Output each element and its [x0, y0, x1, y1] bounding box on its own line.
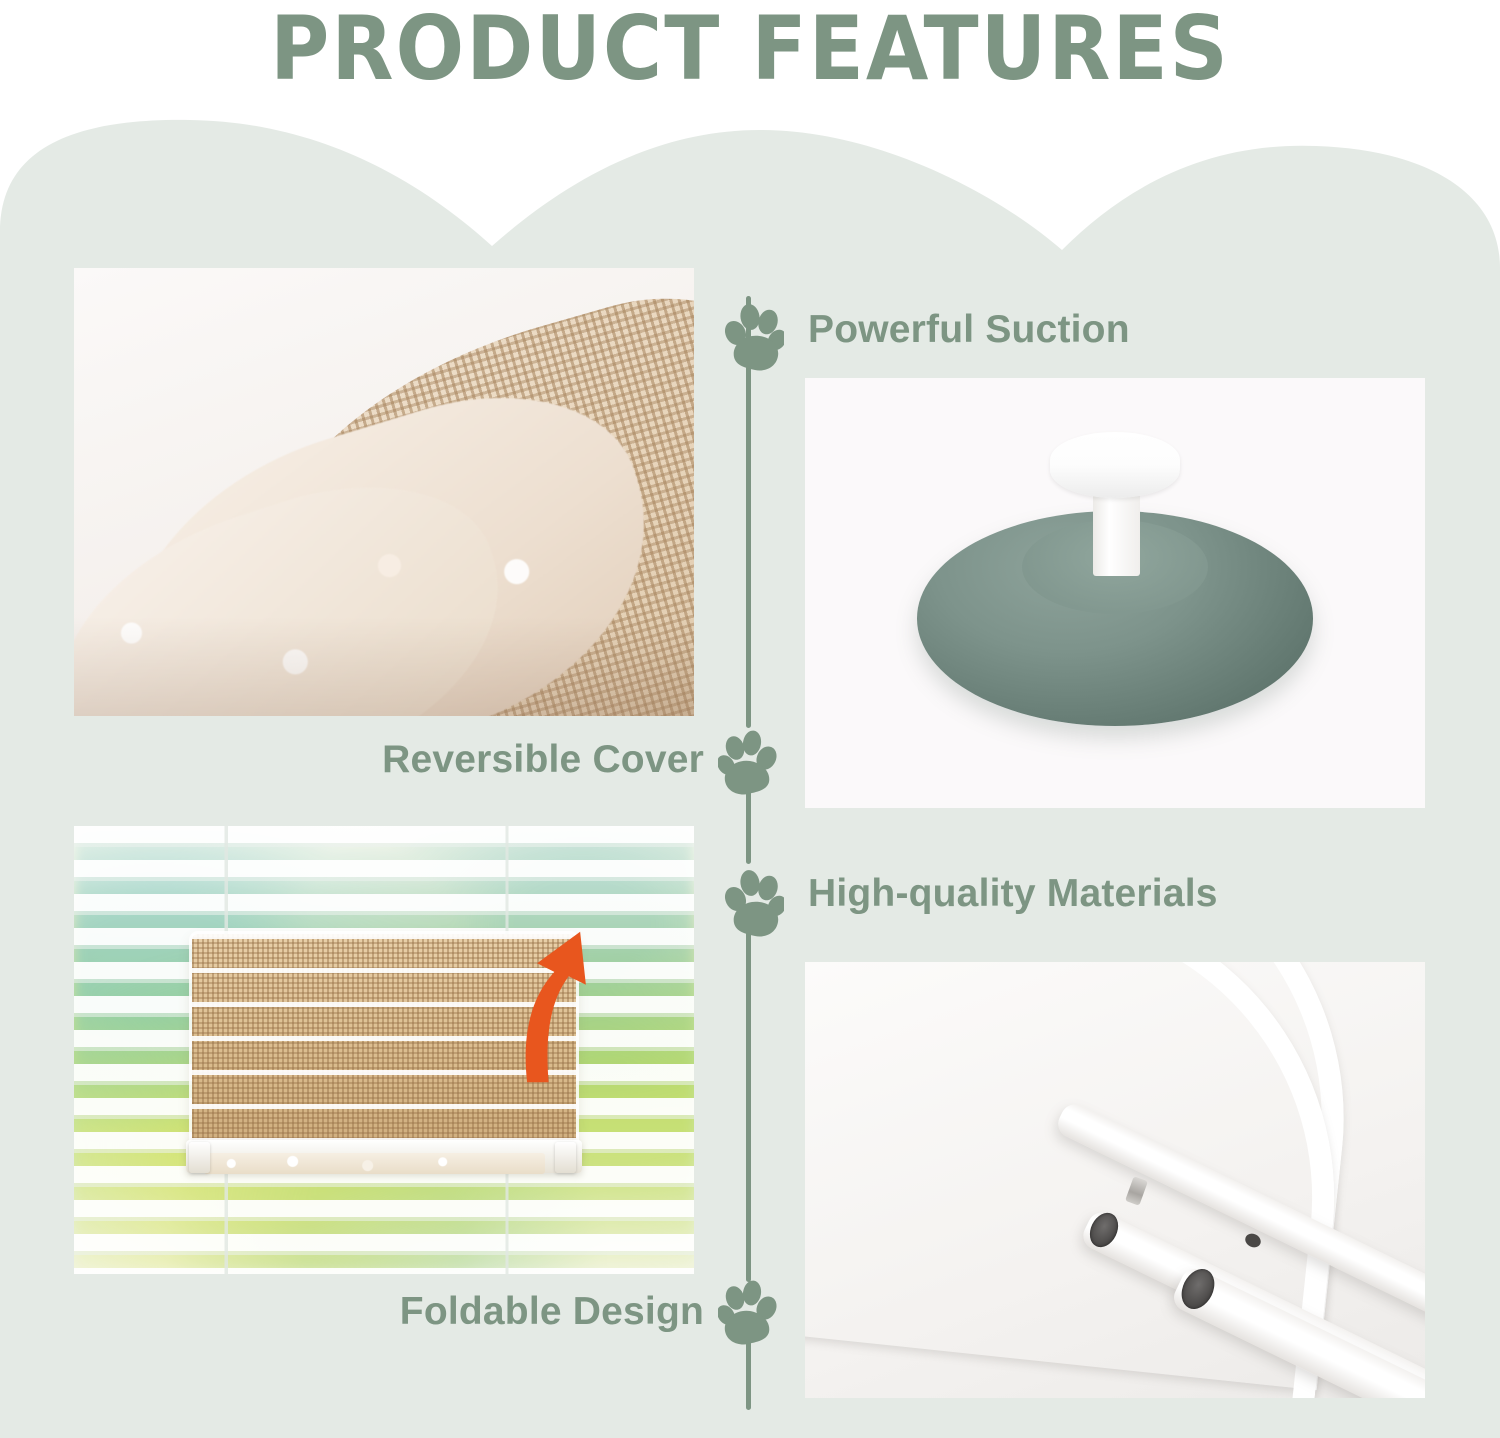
- paw-icon-high-quality-materials: [722, 866, 784, 942]
- feature-label-reversible-cover: Reversible Cover: [300, 738, 704, 782]
- feature-label-powerful-suction: Powerful Suction: [808, 308, 1130, 352]
- feature-photo-high-quality-materials: [805, 962, 1425, 1398]
- feature-photo-powerful-suction: [805, 378, 1425, 808]
- page-title: PRODUCT FEATURES: [0, 0, 1500, 104]
- connector-line-lower: [746, 930, 751, 1282]
- feature-label-foldable-design: Foldable Design: [300, 1290, 704, 1334]
- feature-photo-foldable-design: [74, 826, 694, 1274]
- paw-icon-reversible-cover: [718, 728, 780, 798]
- feature-label-high-quality-materials: High-quality Materials: [808, 872, 1218, 916]
- fold-direction-arrow: [458, 916, 656, 1095]
- connector-line-bottom: [746, 1338, 751, 1410]
- feature-photo-reversible-cover: [74, 268, 694, 716]
- paw-icon-powerful-suction: [722, 300, 784, 376]
- paw-icon-foldable-design: [718, 1278, 780, 1348]
